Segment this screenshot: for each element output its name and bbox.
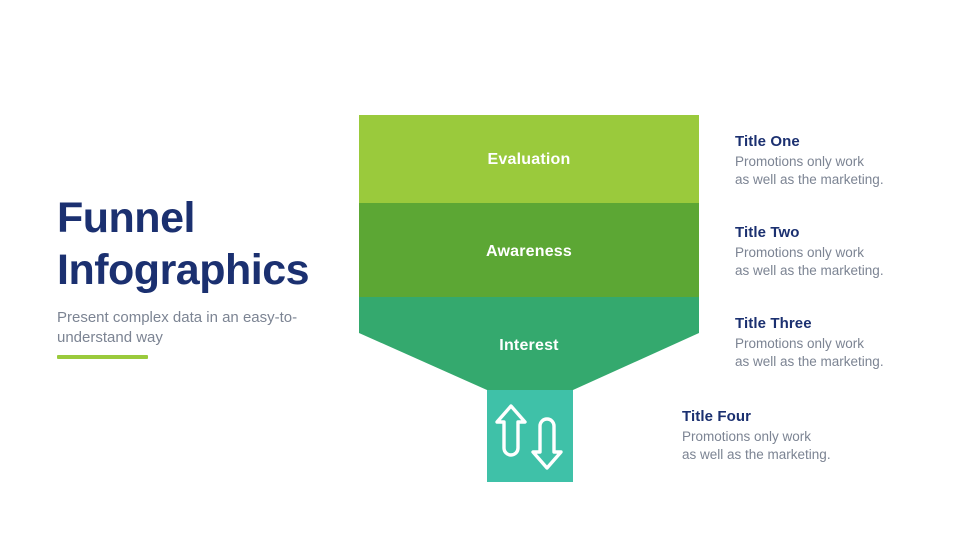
item-description: Promotions only work as well as the mark… — [735, 241, 965, 280]
slide-canvas: Funnel Infographics Present complex data… — [0, 0, 980, 551]
funnel-graphic: Evaluation Awareness Interest — [359, 115, 699, 483]
list-item[interactable]: Title Three Promotions only work as well… — [735, 315, 965, 371]
funnel-band-1[interactable] — [359, 115, 699, 203]
item-description: Promotions only work as well as the mark… — [682, 425, 912, 464]
item-title: Title Four — [682, 408, 912, 425]
list-item[interactable]: Title Four Promotions only work as well … — [682, 408, 912, 464]
funnel-band-2[interactable] — [359, 203, 699, 297]
accent-rule — [57, 355, 148, 359]
page-title: Funnel Infographics — [57, 192, 347, 296]
item-title: Title Two — [735, 224, 965, 241]
heading-block: Funnel Infographics Present complex data… — [57, 192, 347, 348]
up-down-arrows-icon — [487, 400, 571, 474]
list-item[interactable]: Title Two Promotions only work as well a… — [735, 224, 965, 280]
item-description: Promotions only work as well as the mark… — [735, 332, 965, 371]
item-title: Title Three — [735, 315, 965, 332]
list-item[interactable]: Title One Promotions only work as well a… — [735, 133, 965, 189]
page-subtitle: Present complex data in an easy-to-under… — [57, 296, 305, 348]
funnel-band-3[interactable] — [359, 297, 699, 390]
item-title: Title One — [735, 133, 965, 150]
item-description: Promotions only work as well as the mark… — [735, 150, 965, 189]
